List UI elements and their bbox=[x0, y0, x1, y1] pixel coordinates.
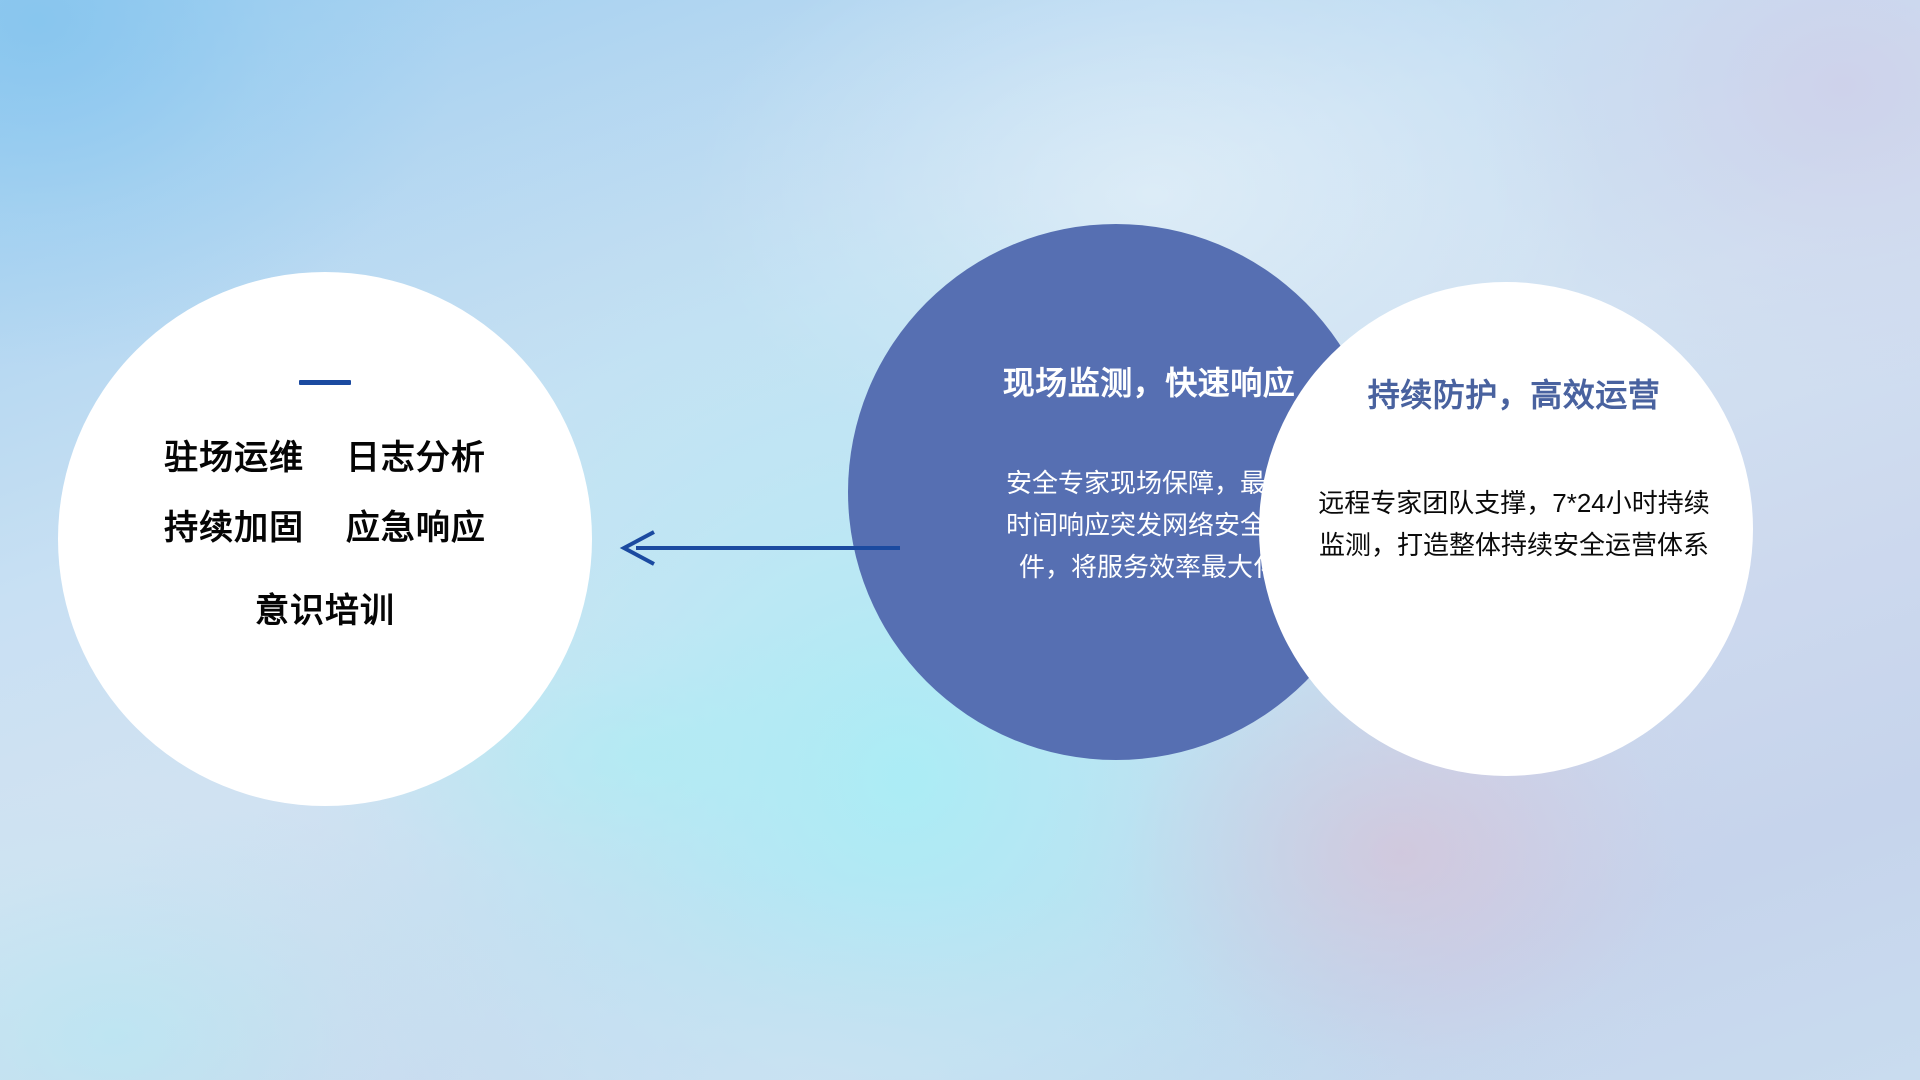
slide-canvas: 驻场运维 日志分析 持续加固 应急响应 意识培训 现场监测，快速响应 安全专家现… bbox=[0, 0, 1920, 1080]
left-circle-content: 驻场运维 日志分析 持续加固 应急响应 意识培训 bbox=[58, 272, 592, 806]
left-service-line-2: 持续加固 应急响应 bbox=[164, 511, 486, 547]
left-service-line-1: 驻场运维 日志分析 bbox=[164, 441, 486, 477]
left-service-line-3: 意识培训 bbox=[255, 594, 395, 630]
middle-circle-body: 安全专家现场保障，最短时间响应突发网络安全事件，将服务效率最大化 bbox=[999, 462, 1299, 588]
right-circle-content: 持续防护，高效运营 远程专家团队支撑，7*24小时持续监测，打造整体持续安全运营… bbox=[1259, 282, 1753, 776]
right-circle-body: 远程专家团队支撑，7*24小时持续监测，打造整体持续安全运营体系 bbox=[1309, 482, 1719, 566]
left-divider-dash bbox=[299, 380, 351, 385]
right-circle-title: 持续防护，高效运营 bbox=[1368, 370, 1661, 416]
middle-circle-title: 现场监测，快速响应 bbox=[1003, 358, 1296, 404]
